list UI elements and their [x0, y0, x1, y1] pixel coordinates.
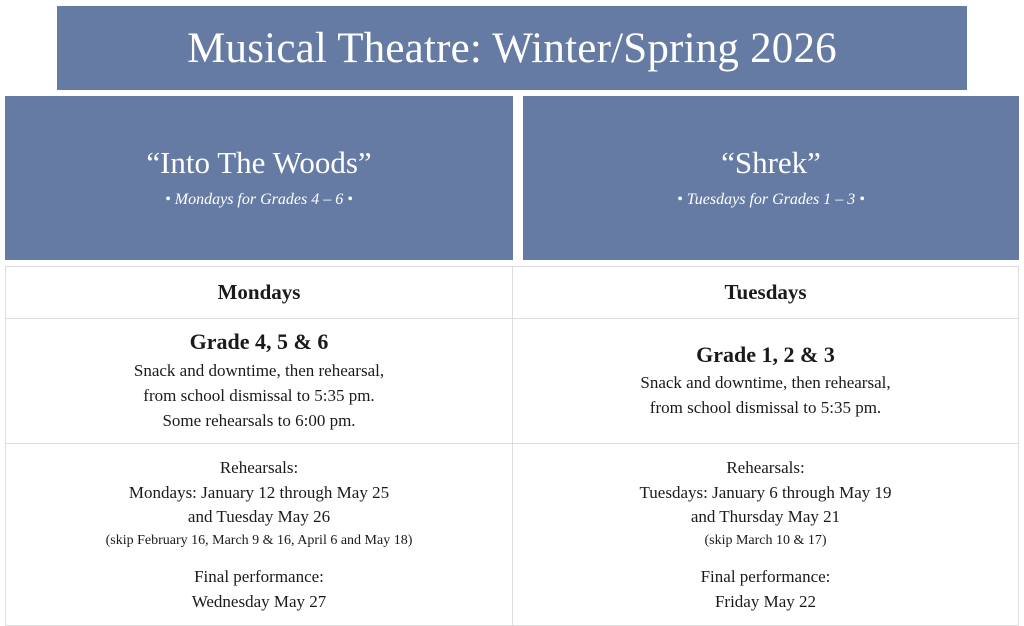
day-header-tuesdays: Tuesdays — [513, 282, 1018, 303]
final-performance-date-tuesdays: Friday May 22 — [519, 590, 1012, 615]
show-header-shrek: “Shrek” • Tuesdays for Grades 1 – 3 • — [523, 96, 1019, 260]
rehearsal-date-line: Tuesdays: January 6 through May 19 — [519, 481, 1012, 506]
show-subtitle-shrek: • Tuesdays for Grades 1 – 3 • — [677, 191, 865, 209]
page-title-banner: Musical Theatre: Winter/Spring 2026 — [57, 6, 967, 90]
rehearsal-date-line: Mondays: January 12 through May 25 — [12, 481, 506, 506]
spacer — [12, 551, 506, 565]
show-headers-row: “Into The Woods” • Mondays for Grades 4 … — [0, 96, 1024, 260]
rehearsal-cell-mondays: Rehearsals: Mondays: January 12 through … — [6, 443, 513, 625]
rehearsal-date-line: and Tuesday May 26 — [12, 505, 506, 530]
show-title-shrek: “Shrek” — [721, 147, 821, 180]
table-row-rehearsal-info: Rehearsals: Mondays: January 12 through … — [6, 443, 1019, 625]
rehearsal-cell-tuesdays: Rehearsals: Tuesdays: January 6 through … — [513, 443, 1019, 625]
show-header-divider — [513, 96, 523, 260]
final-performance-label-mondays: Final performance: — [12, 565, 506, 590]
day-header-cell-tuesdays: Tuesdays — [513, 267, 1019, 319]
grade-detail-line: Some rehearsals to 6:00 pm. — [12, 408, 506, 433]
page-title: Musical Theatre: Winter/Spring 2026 — [187, 27, 837, 70]
show-subtitle-into-the-woods: • Mondays for Grades 4 – 6 • — [165, 191, 353, 209]
rehearsal-skip-note-tuesdays: (skip March 10 & 17) — [519, 530, 1012, 551]
schedule-table: Mondays Tuesdays Grade 4, 5 & 6 Snack an… — [5, 266, 1019, 626]
spacer — [519, 551, 1012, 565]
table-row-grade-info: Grade 4, 5 & 6 Snack and downtime, then … — [6, 319, 1019, 444]
grade-cell-tuesdays: Grade 1, 2 & 3 Snack and downtime, then … — [513, 319, 1019, 444]
grade-detail-line: Snack and downtime, then rehearsal, — [12, 358, 506, 383]
grade-detail-line: from school dismissal to 5:35 pm. — [519, 395, 1012, 420]
musical-theatre-schedule-page: Musical Theatre: Winter/Spring 2026 “Int… — [0, 0, 1024, 595]
show-title-into-the-woods: “Into The Woods” — [146, 147, 371, 180]
final-performance-date-mondays: Wednesday May 27 — [12, 590, 506, 615]
grade-title-tuesdays: Grade 1, 2 & 3 — [519, 341, 1012, 369]
grade-detail-line: Snack and downtime, then rehearsal, — [519, 370, 1012, 395]
grade-cell-mondays: Grade 4, 5 & 6 Snack and downtime, then … — [6, 319, 513, 444]
rehearsal-skip-note-mondays: (skip February 16, March 9 & 16, April 6… — [12, 530, 506, 551]
rehearsals-label-tuesdays: Rehearsals: — [519, 456, 1012, 481]
rehearsals-label-mondays: Rehearsals: — [12, 456, 506, 481]
grade-title-mondays: Grade 4, 5 & 6 — [12, 328, 506, 356]
day-header-mondays: Mondays — [6, 282, 512, 303]
rehearsal-date-line: and Thursday May 21 — [519, 505, 1012, 530]
show-header-into-the-woods: “Into The Woods” • Mondays for Grades 4 … — [5, 96, 513, 260]
grade-detail-line: from school dismissal to 5:35 pm. — [12, 383, 506, 408]
day-header-cell-mondays: Mondays — [6, 267, 513, 319]
final-performance-label-tuesdays: Final performance: — [519, 565, 1012, 590]
table-row-day-headers: Mondays Tuesdays — [6, 267, 1019, 319]
